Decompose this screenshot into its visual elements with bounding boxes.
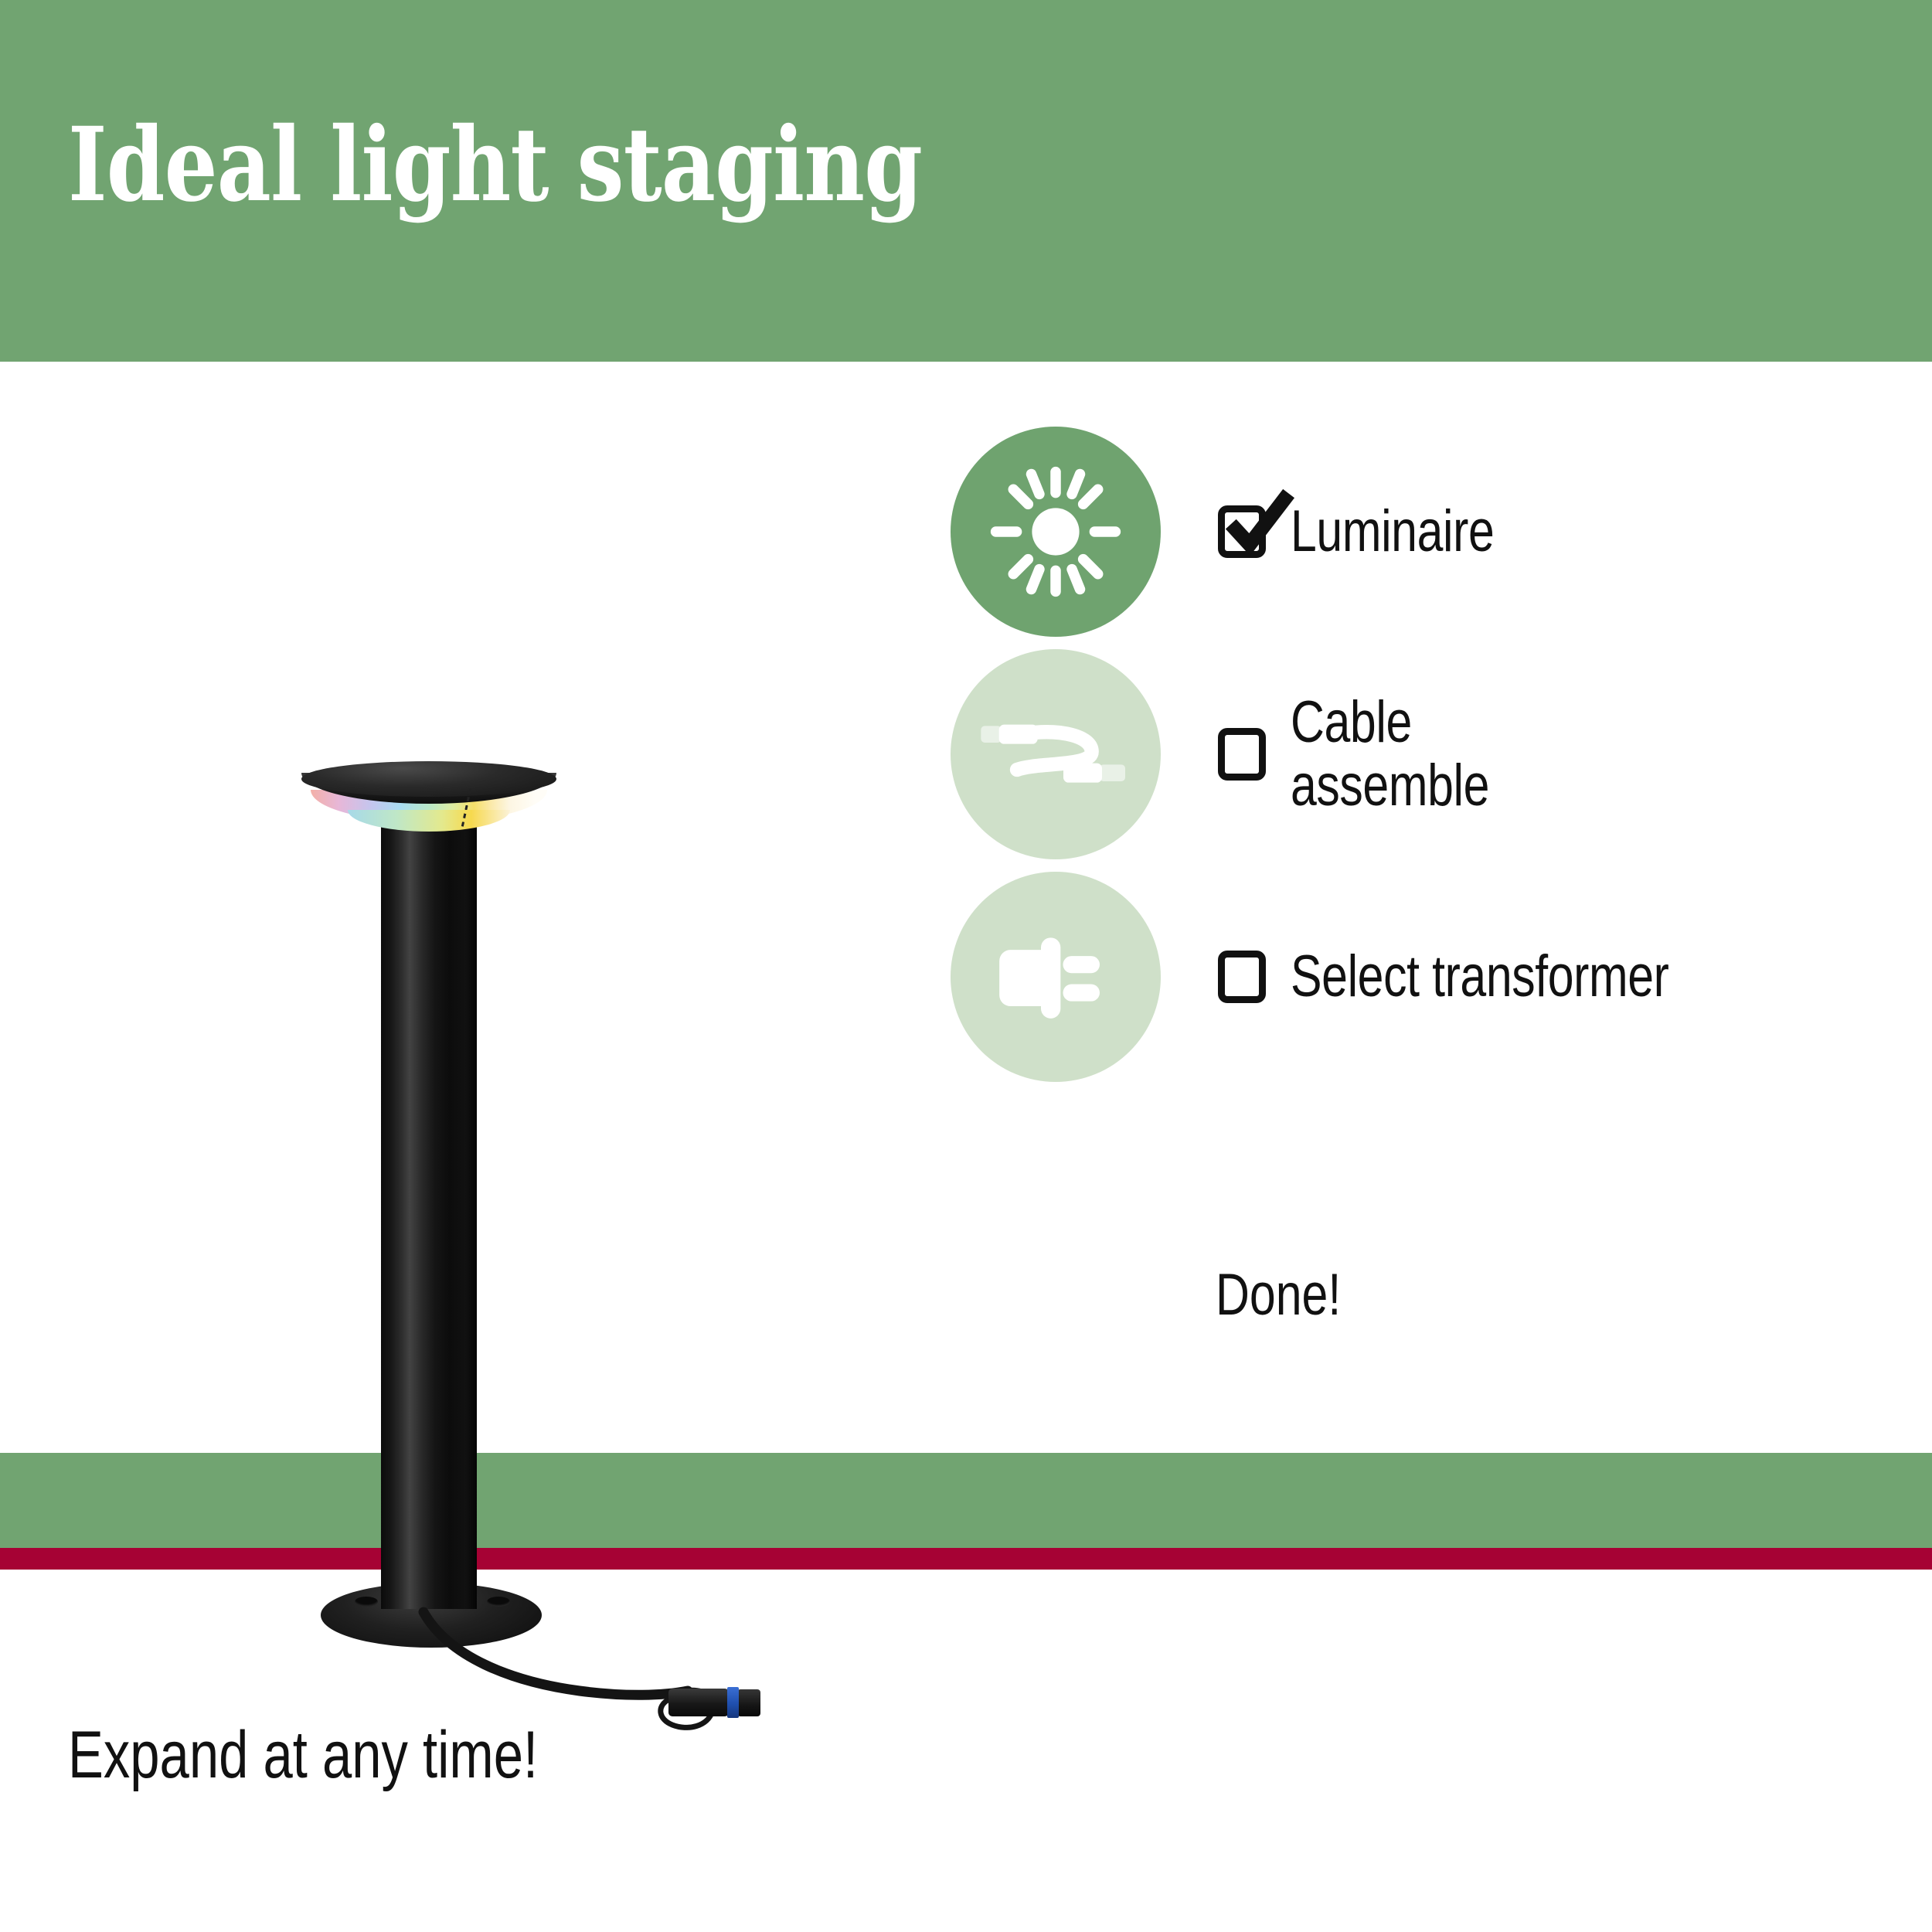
checkmark-icon [1216,480,1301,565]
checklist-label-cable-assemble: Cable assemble [1291,691,1489,818]
main-content-area: Luminaire Cable assemble [0,362,1932,1453]
sun-icon [986,462,1125,601]
page-title: Ideal light staging [68,114,922,216]
cable-check-group[interactable]: Cable assemble [1218,691,1539,818]
lamp-head-disc [301,761,556,797]
luminaire-check-group[interactable]: Luminaire [1218,500,1545,563]
plug-icon-circle [951,872,1161,1082]
checklist-label-select-transformer: Select transformer [1291,945,1669,1009]
checklist-item-luminaire[interactable]: Luminaire [951,420,1901,643]
checkbox-luminaire[interactable] [1218,505,1266,558]
checkbox-cable-assemble[interactable] [1218,728,1266,781]
lamp-pole [381,815,477,1609]
cable-connector-blue-ring [727,1687,739,1718]
assembly-checklist: Luminaire Cable assemble [951,420,1901,1088]
lamp-rgb-glow-inner [348,810,510,832]
footer-red-band [0,1548,1932,1570]
checklist-item-select-transformer[interactable]: Select transformer [951,866,1901,1088]
cable-connector-body [668,1689,729,1716]
checklist-item-cable-assemble[interactable]: Cable assemble [951,643,1901,866]
checkbox-select-transformer[interactable] [1218,951,1266,1003]
product-image-bollard-light [255,377,896,1413]
footer-green-band [0,1453,1932,1548]
cable-icon [978,677,1133,832]
sun-icon-circle [951,427,1161,637]
transformer-check-group[interactable]: Select transformer [1218,945,1764,1009]
done-text: Done! [1216,1261,1341,1328]
checklist-label-luminaire: Luminaire [1291,500,1494,563]
plug-icon [982,903,1129,1050]
cable-icon-circle [951,649,1161,859]
lamp-cable [255,1583,896,1760]
cable-connector-tip [737,1689,760,1716]
